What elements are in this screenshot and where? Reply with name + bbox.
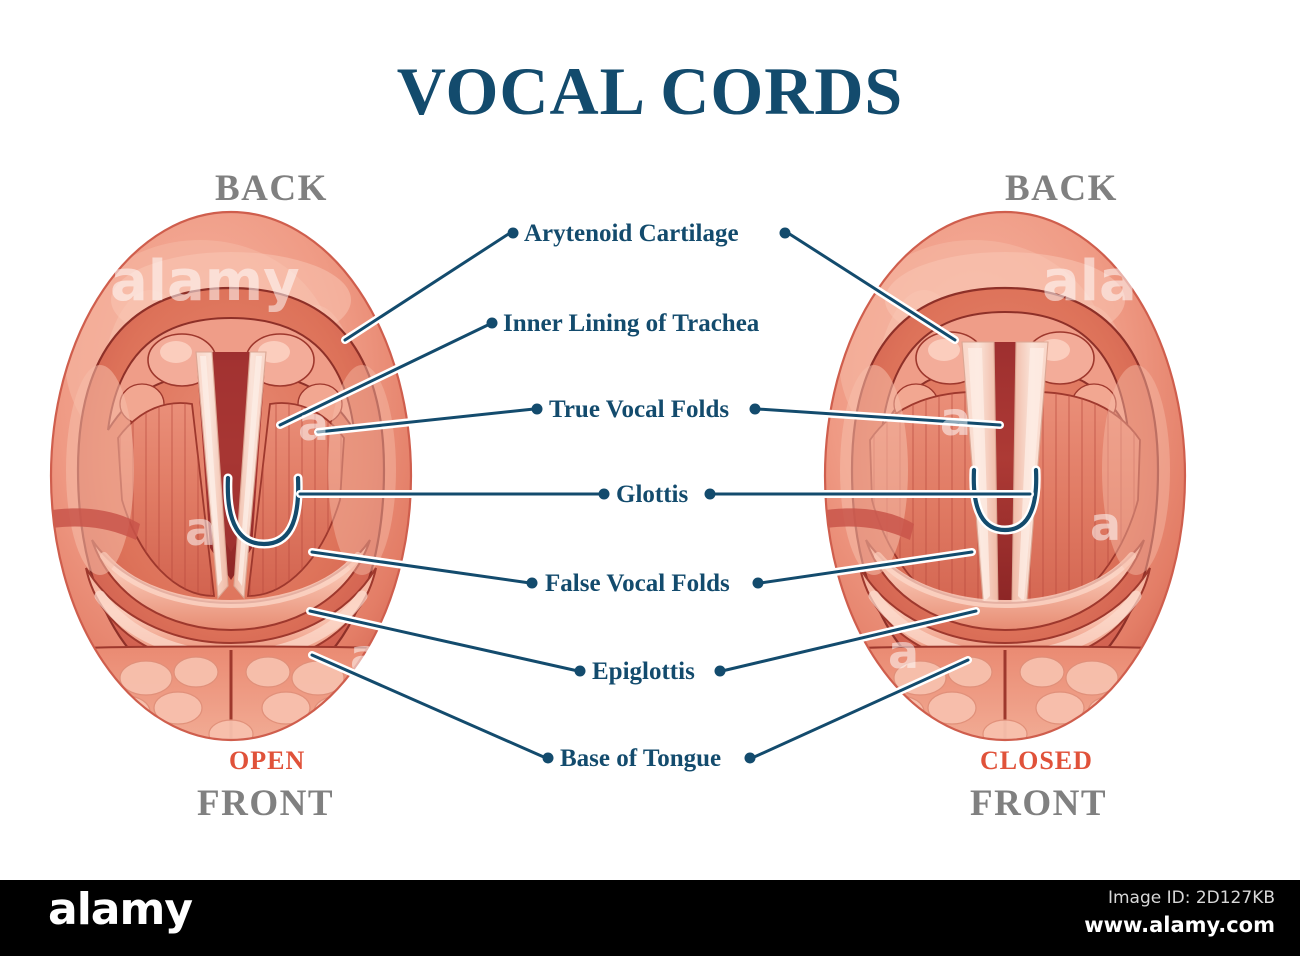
image-id-text: Image ID: 2D127KB — [1108, 890, 1275, 907]
callout-glottis[interactable]: Glottis — [616, 482, 688, 507]
callout-base-of-tongue[interactable]: Base of Tongue — [560, 746, 721, 771]
diagram-canvas: alamy a a a alamy a a a alam VOCAL CORDS… — [0, 0, 1300, 956]
svg-text:a: a — [298, 397, 329, 451]
callout-true-vocal-folds[interactable]: True Vocal Folds — [549, 397, 729, 422]
left-orientation-back: BACK — [215, 170, 328, 207]
left-orientation-front: FRONT — [197, 785, 334, 822]
callout-false-vocal-folds[interactable]: False Vocal Folds — [545, 571, 730, 596]
alamy-logo: alamy — [48, 888, 192, 932]
right-orientation-back: BACK — [1005, 170, 1118, 207]
leader-tongue-left — [312, 655, 546, 758]
svg-text:a: a — [940, 392, 971, 446]
svg-text:alamy: alamy — [110, 249, 300, 314]
svg-text:alamy: alamy — [1042, 249, 1232, 314]
svg-text:a: a — [888, 625, 919, 679]
callout-epiglottis[interactable]: Epiglottis — [592, 659, 695, 684]
callout-arytenoid-cartilage[interactable]: Arytenoid Cartilage — [524, 221, 739, 246]
left-state-label: OPEN — [229, 748, 305, 774]
svg-text:a: a — [1090, 497, 1121, 551]
page-title: VOCAL CORDS — [0, 57, 1300, 125]
svg-text:a: a — [350, 629, 381, 683]
alamy-url-text: www.alamy.com — [1084, 915, 1275, 936]
svg-text:a: a — [185, 502, 216, 556]
right-orientation-front: FRONT — [970, 785, 1107, 822]
right-state-label: CLOSED — [980, 748, 1093, 774]
callout-inner-lining-of-trachea[interactable]: Inner Lining of Trachea — [503, 311, 759, 336]
